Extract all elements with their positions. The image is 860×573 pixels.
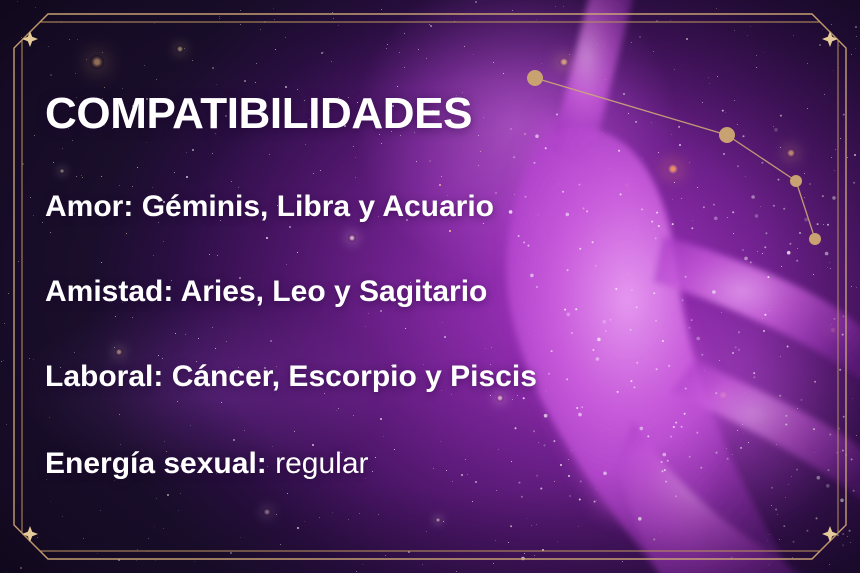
compatibility-value-amistad: Aries, Leo y Sagitario [181, 275, 488, 308]
compatibility-label-amor: Amor: [45, 190, 133, 223]
text-content: COMPATIBILIDADES Amor: Géminis, Libra y … [45, 0, 605, 573]
compatibility-value-energia-sexual: regular [275, 447, 368, 480]
compatibility-label-energia-sexual: Energía sexual: [45, 447, 267, 480]
compatibility-label-amistad: Amistad: [45, 275, 173, 308]
compatibility-line-amor: Amor: Géminis, Libra y Acuario [45, 192, 494, 222]
sparkle-top-left-icon [22, 31, 38, 47]
page-title: COMPATIBILIDADES [45, 92, 472, 136]
compatibility-line-energia-sexual: Energía sexual: regular [45, 449, 369, 479]
sparkle-bottom-left-icon [22, 526, 38, 542]
compatibility-value-amor: Géminis, Libra y Acuario [142, 190, 494, 223]
compatibility-label-laboral: Laboral: [45, 360, 163, 393]
horoscope-compatibility-poster: COMPATIBILIDADES Amor: Géminis, Libra y … [0, 0, 860, 573]
compatibility-value-laboral: Cáncer, Escorpio y Piscis [172, 360, 537, 393]
compatibility-line-laboral: Laboral: Cáncer, Escorpio y Piscis [45, 362, 537, 392]
sparkle-bottom-right-icon [822, 526, 838, 542]
compatibility-line-amistad: Amistad: Aries, Leo y Sagitario [45, 277, 487, 307]
sparkle-top-right-icon [822, 31, 838, 47]
